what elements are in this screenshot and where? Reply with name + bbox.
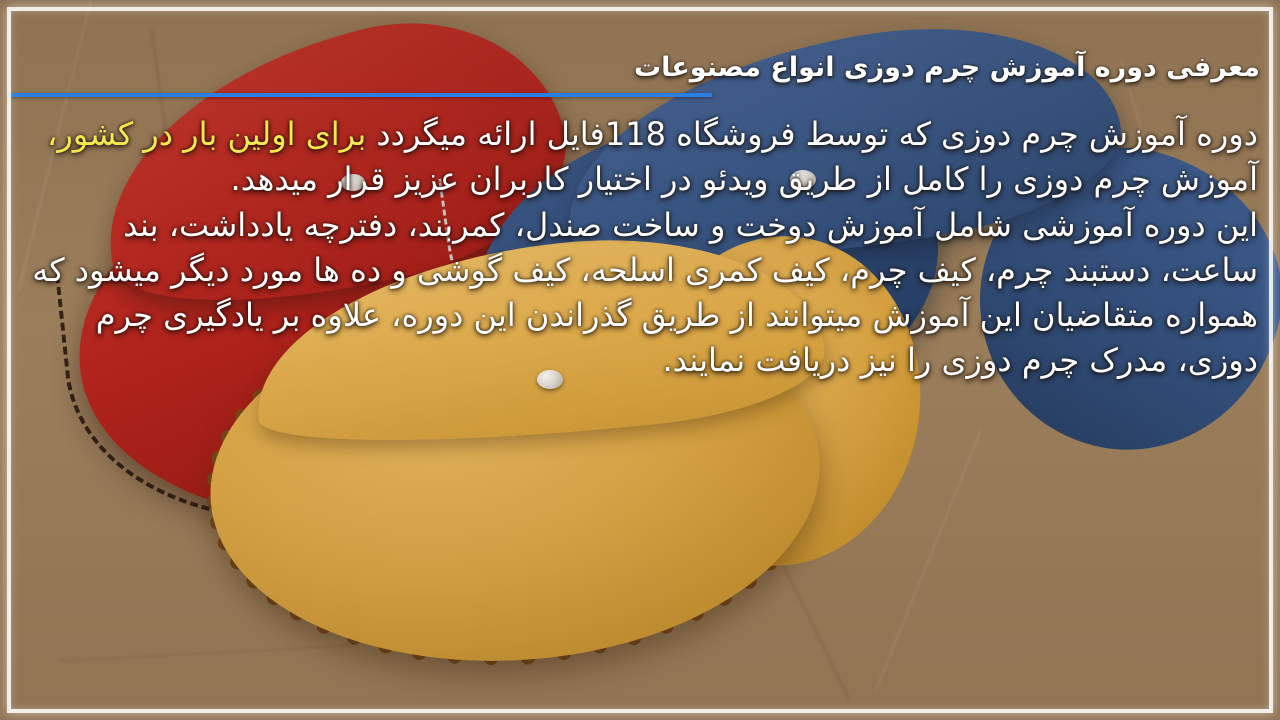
highlighted-text-run: برای اولین بار در کشور، xyxy=(47,115,366,153)
slide-content: معرفی دوره آموزش چرم دوزی انواع مصنوعات … xyxy=(0,0,1280,720)
paragraph-intro: دوره آموزش چرم دوزی که توسط فروشگاه 118ف… xyxy=(20,112,1258,203)
page-title: معرفی دوره آموزش چرم دوزی انواع مصنوعات xyxy=(18,52,1260,84)
text-run: آموزش چرم دوزی را کامل از طریق ویدئو در … xyxy=(231,160,1258,198)
title-underline-rule xyxy=(8,93,712,97)
text-run: دوره آموزش چرم دوزی که توسط فروشگاه 118ف… xyxy=(366,115,1258,153)
text-run: این دوره آموزشی شامل آموزش دوخت و ساخت ص… xyxy=(32,206,1258,380)
slide-canvas: معرفی دوره آموزش چرم دوزی انواع مصنوعات … xyxy=(0,0,1280,720)
paragraph-contents: این دوره آموزشی شامل آموزش دوخت و ساخت ص… xyxy=(20,203,1258,384)
body-copy: دوره آموزش چرم دوزی که توسط فروشگاه 118ف… xyxy=(20,112,1258,384)
